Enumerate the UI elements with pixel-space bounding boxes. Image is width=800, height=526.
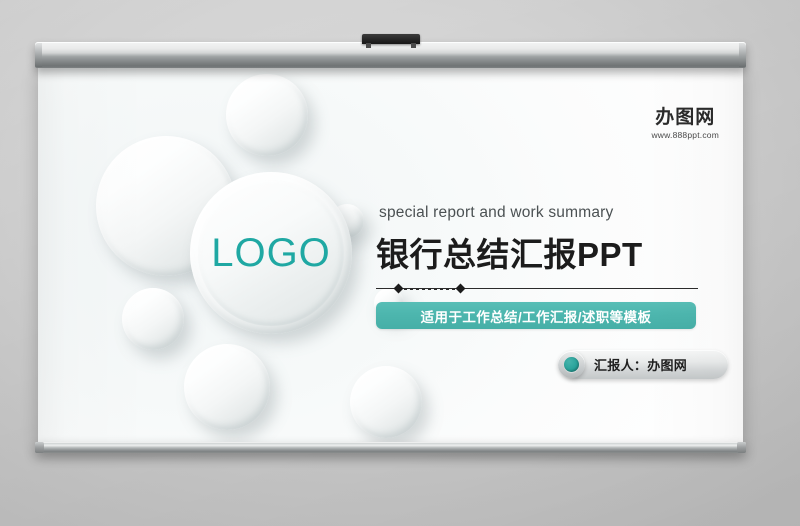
subtitle-english: special report and work summary bbox=[376, 204, 706, 222]
presenter-dot-core bbox=[564, 357, 579, 372]
watermark-url: www.888ppt.com bbox=[651, 130, 719, 140]
screen-weight-bar bbox=[35, 442, 746, 453]
decorative-circle-top bbox=[226, 74, 308, 156]
decorative-circle-mid-right bbox=[350, 366, 422, 438]
presenter-badge[interactable]: 汇报人：办图网 bbox=[562, 350, 728, 379]
circle-disc bbox=[184, 344, 270, 430]
screen-housing-bar bbox=[35, 42, 746, 68]
title-block: special report and work summary 银行总结汇报PP… bbox=[376, 204, 706, 329]
wall-background: LOGO 办图网 www.888ppt.com special report a… bbox=[0, 0, 800, 526]
weight-endcap-right bbox=[737, 442, 746, 453]
circle-disc bbox=[122, 288, 184, 350]
decorative-circle-bottom-center bbox=[184, 344, 270, 430]
watermark: 办图网 www.888ppt.com bbox=[651, 108, 719, 140]
divider bbox=[376, 284, 698, 293]
ribbon-label: 适用于工作总结/工作汇报/述职等模板 bbox=[421, 306, 652, 326]
circle-disc bbox=[226, 74, 308, 156]
page-title: 银行总结汇报PPT bbox=[376, 228, 706, 276]
housing-endcap-left bbox=[35, 43, 42, 67]
decorative-circle-small-left bbox=[122, 288, 184, 350]
slide-canvas: LOGO 办图网 www.888ppt.com special report a… bbox=[38, 66, 743, 442]
logo-plate[interactable]: LOGO bbox=[190, 172, 352, 334]
subtitle-ribbon: 适用于工作总结/工作汇报/述职等模板 bbox=[376, 302, 696, 329]
circle-disc bbox=[350, 366, 422, 438]
watermark-brand: 办图网 bbox=[651, 108, 719, 129]
projector-screen: LOGO 办图网 www.888ppt.com special report a… bbox=[35, 42, 746, 470]
divider-dashed bbox=[398, 288, 460, 290]
logo-placeholder-text: LOGO bbox=[190, 172, 352, 334]
divider-node-1 bbox=[394, 284, 404, 294]
housing-endcap-right bbox=[739, 43, 746, 67]
ceiling-mount-bracket-icon bbox=[362, 34, 420, 44]
presenter-dot-icon bbox=[558, 351, 585, 378]
weight-endcap-left bbox=[35, 442, 44, 453]
divider-node-2 bbox=[456, 284, 466, 294]
presenter-label: 汇报人：办图网 bbox=[594, 355, 687, 374]
